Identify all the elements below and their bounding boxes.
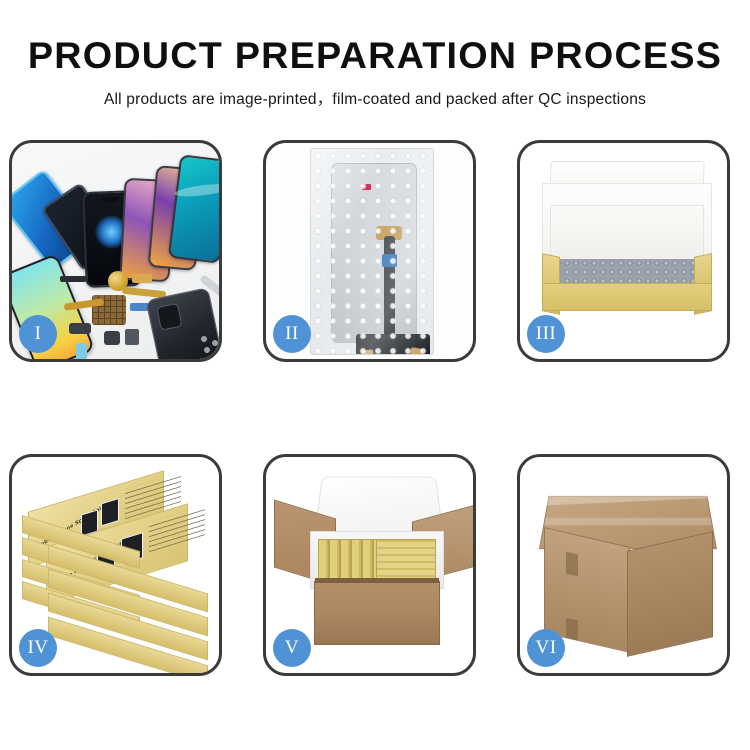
process-grid: I II (0, 140, 750, 676)
page-subtitle: All products are image-printed，film-coat… (0, 87, 750, 109)
step-panel-bubble-wrapped-screen[interactable]: II (263, 140, 476, 362)
page-title: PRODUCT PREPARATION PROCESS (0, 34, 750, 78)
component-part-7 (76, 343, 87, 359)
carton-seam-bottom (566, 618, 578, 641)
step-badge-6: VI (527, 629, 565, 667)
step-badge-4: IV (19, 629, 57, 667)
bubble-wrap-bag (310, 148, 434, 355)
step-panel-parts-and-screens[interactable]: I (9, 140, 222, 362)
component-part-5 (104, 331, 120, 345)
process-row-top: I II (0, 140, 750, 362)
step-badge-5: V (273, 629, 311, 667)
step-badge-2: II (273, 315, 311, 353)
component-part-2 (69, 323, 91, 334)
bag-sheen (311, 149, 433, 354)
step-badge-3: III (527, 315, 565, 353)
step-badge-1: I (19, 315, 57, 353)
component-part-1 (60, 276, 86, 282)
step-panel-inner-box-packing[interactable]: III (517, 140, 730, 362)
carton-front-wall (314, 581, 440, 645)
screws-group (200, 335, 219, 355)
step-panel-stacked-retail-boxes[interactable]: Mobile Phone Spare Parts Mobile Phone Sp… (9, 454, 222, 676)
carton-seam-top (566, 552, 578, 577)
step-panel-sealed-carton[interactable]: VI (517, 454, 730, 676)
step-panel-carton-loading[interactable]: V (263, 454, 476, 676)
component-part-3 (132, 274, 152, 283)
carton-right-face (627, 531, 713, 657)
box-front-wall (542, 283, 712, 311)
packed-boxes-row-2 (376, 539, 436, 583)
page-header: PRODUCT PREPARATION PROCESS All products… (0, 0, 750, 109)
box-chip-a2 (101, 498, 119, 527)
component-part-6 (125, 329, 139, 345)
process-row-bottom: Mobile Phone Spare Parts Mobile Phone Sp… (0, 454, 750, 676)
box-text-lines-b (149, 505, 205, 552)
